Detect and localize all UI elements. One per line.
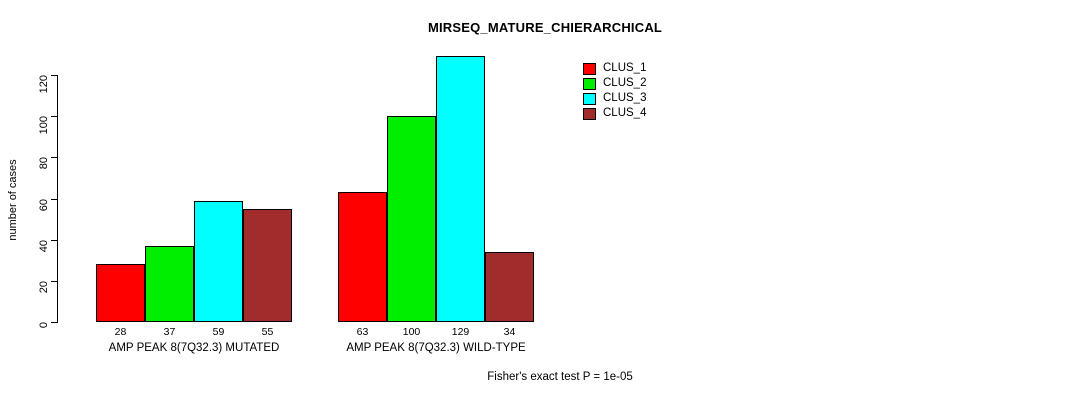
legend-swatch-icon bbox=[583, 63, 596, 75]
y-tick-label: 100 bbox=[38, 116, 50, 134]
bar-value-label: 37 bbox=[164, 326, 176, 338]
bar[interactable] bbox=[436, 56, 485, 322]
y-tick-label: 60 bbox=[38, 199, 50, 211]
bar-value-label: 55 bbox=[262, 326, 274, 338]
legend-item[interactable]: CLUS_4 bbox=[583, 107, 646, 121]
bar-chart-figure: MIRSEQ_MATURE_CHIERARCHICAL number of ca… bbox=[0, 0, 1090, 400]
bar[interactable] bbox=[194, 201, 243, 322]
y-tick-mark bbox=[51, 281, 57, 282]
y-tick-label: 40 bbox=[38, 240, 50, 252]
group-axis-label: AMP PEAK 8(7Q32.3) WILD-TYPE bbox=[346, 342, 525, 354]
legend-label: CLUS_1 bbox=[603, 63, 646, 75]
chart-legend: CLUS_1CLUS_2CLUS_3CLUS_4 bbox=[583, 62, 646, 122]
y-axis-title: number of cases bbox=[7, 159, 19, 240]
y-tick-mark bbox=[51, 322, 57, 323]
chart-title: MIRSEQ_MATURE_CHIERARCHICAL bbox=[0, 20, 1090, 35]
bar[interactable] bbox=[485, 252, 534, 322]
bar-value-label: 59 bbox=[213, 326, 225, 338]
bar-value-label: 129 bbox=[452, 326, 470, 338]
bar[interactable] bbox=[387, 116, 436, 322]
legend-swatch-icon bbox=[583, 93, 596, 105]
y-tick-mark bbox=[51, 199, 57, 200]
legend-label: CLUS_2 bbox=[603, 78, 646, 90]
footer-note: Fisher's exact test P = 1e-05 bbox=[487, 371, 633, 383]
y-tick-mark bbox=[51, 157, 57, 158]
bar[interactable] bbox=[96, 264, 145, 322]
y-tick-label: 120 bbox=[38, 75, 50, 93]
y-tick-mark bbox=[51, 116, 57, 117]
y-tick-mark bbox=[51, 240, 57, 241]
group-axis-label: AMP PEAK 8(7Q32.3) MUTATED bbox=[109, 342, 280, 354]
bar-value-label: 34 bbox=[504, 326, 516, 338]
y-axis-line bbox=[57, 75, 58, 323]
y-tick-label: 80 bbox=[38, 157, 50, 169]
y-tick-label: 20 bbox=[38, 281, 50, 293]
bar[interactable] bbox=[145, 246, 194, 322]
legend-swatch-icon bbox=[583, 78, 596, 90]
bar-value-label: 28 bbox=[115, 326, 127, 338]
bar[interactable] bbox=[243, 209, 292, 322]
legend-label: CLUS_4 bbox=[603, 108, 646, 120]
bar[interactable] bbox=[338, 192, 387, 322]
legend-label: CLUS_3 bbox=[603, 93, 646, 105]
legend-item[interactable]: CLUS_3 bbox=[583, 92, 646, 106]
y-tick-mark bbox=[51, 75, 57, 76]
legend-swatch-icon bbox=[583, 108, 596, 120]
bar-value-label: 63 bbox=[357, 326, 369, 338]
legend-item[interactable]: CLUS_1 bbox=[583, 62, 646, 76]
y-tick-label: 0 bbox=[38, 322, 50, 328]
legend-item[interactable]: CLUS_2 bbox=[583, 77, 646, 91]
bar-value-label: 100 bbox=[403, 326, 421, 338]
